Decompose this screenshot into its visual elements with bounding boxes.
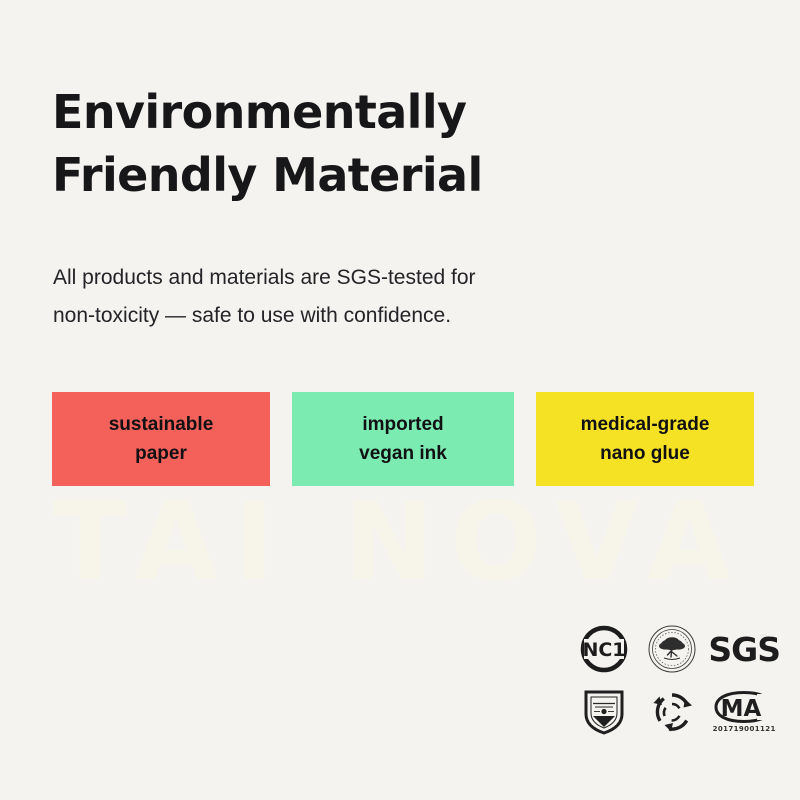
material-chip-label-line-2: vegan ink	[359, 439, 447, 468]
page-title-line-1: Environmentally	[52, 81, 692, 144]
certification-badge-cma: MA 201719001121	[713, 690, 776, 734]
certification-badge-grid: NC1	[572, 618, 780, 742]
page-title-line-2: Friendly Material	[52, 144, 692, 207]
material-chip-label-line-1: sustainable	[109, 410, 214, 439]
certification-badge-sgs: SGS	[708, 633, 780, 666]
page-subtitle-line-2: non-toxicity — safe to use with confiden…	[53, 297, 653, 335]
certification-badge-recycle	[647, 687, 697, 737]
nc1-certification-icon: NC1	[578, 623, 630, 675]
certification-badge-shield	[582, 688, 626, 736]
cma-certification-icon: MA	[713, 690, 775, 724]
material-chip-label-line-1: medical-grade	[581, 410, 710, 439]
svg-text:NC1: NC1	[583, 639, 626, 661]
certification-badge-forest-stamp	[647, 624, 697, 674]
recycling-arrows-icon	[647, 687, 697, 737]
material-chip-medical-grade-nano-glue: medical-grade nano glue	[536, 392, 754, 486]
material-chip-label-line-2: paper	[135, 439, 187, 468]
cma-certificate-number: 201719001121	[713, 725, 776, 734]
forest-tree-stamp-icon	[647, 624, 697, 674]
sgs-logo-icon: SGS	[708, 633, 780, 666]
brand-watermark: TAI NOVA	[0, 484, 800, 602]
page-subtitle-line-1: All products and materials are SGS-teste…	[53, 259, 653, 297]
certification-badge-nc1: NC1	[578, 623, 630, 675]
material-chip-imported-vegan-ink: imported vegan ink	[292, 392, 514, 486]
poster-canvas: TAI NOVA Environmentally Friendly Materi…	[0, 0, 800, 800]
material-chip-label-line-2: nano glue	[600, 439, 690, 468]
page-title: Environmentally Friendly Material	[52, 81, 692, 207]
material-chip-sustainable-paper: sustainable paper	[52, 392, 270, 486]
material-chip-label-line-1: imported	[362, 410, 443, 439]
material-chip-group: sustainable paper imported vegan ink med…	[52, 392, 754, 486]
page-subtitle: All products and materials are SGS-teste…	[53, 259, 653, 335]
shield-certification-icon	[582, 688, 626, 736]
svg-text:MA: MA	[721, 696, 762, 722]
